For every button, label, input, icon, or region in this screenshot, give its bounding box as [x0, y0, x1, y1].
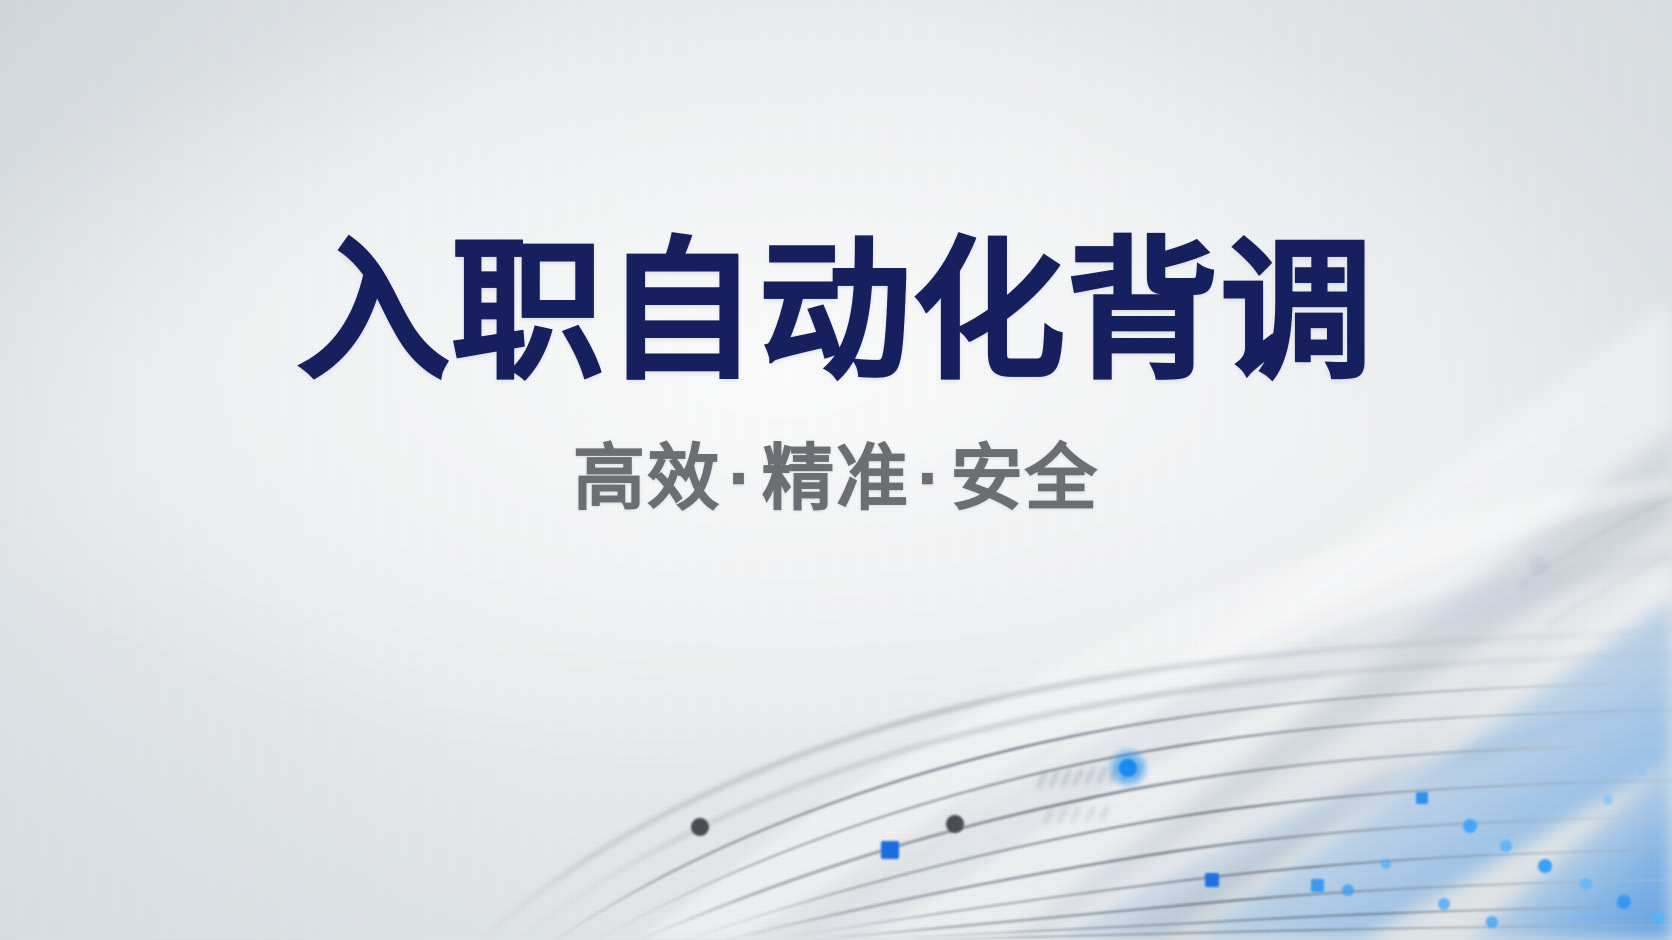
slide-canvas: 入职自动化背调 高效·精准·安全	[0, 0, 1672, 940]
background-film-grain	[0, 0, 1672, 940]
